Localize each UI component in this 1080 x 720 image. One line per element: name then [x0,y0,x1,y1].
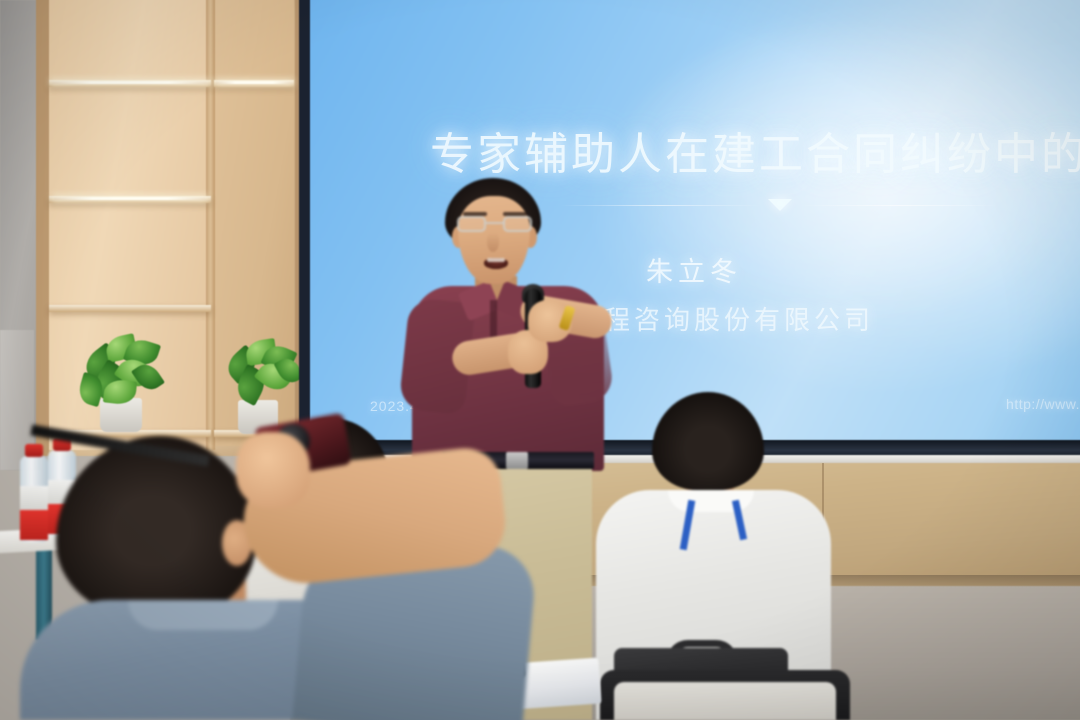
slide-divider [560,196,1000,214]
glasses-lens-left [457,216,486,232]
slide-speaker-name: 朱立冬 [0,250,1080,289]
bottle-label-red [20,510,48,540]
bottle-label-white [20,486,48,510]
glasses-icon [457,216,533,234]
led-strip-light [216,81,292,84]
glasses-lens-right [503,216,532,232]
presentation-photo-scene: 专家辅助人在建工合同纠纷中的作用 朱立冬 鼎正工程咨询股份有限公司 2023.4… [0,0,1080,720]
bookshelf-frame [36,0,304,456]
attendee-right-collar [668,490,754,512]
presenter-teeth [487,258,505,262]
photographer-collar [128,600,278,630]
photographer-hand [236,432,310,508]
divider-line-right [798,205,1000,206]
led-strip-light [52,81,208,84]
down-triangle-icon [768,199,792,211]
slide-title: 专家辅助人在建工合同纠纷中的作用 [430,118,1080,182]
divider-line-left [560,205,762,206]
presenter-belt-buckle [506,452,528,469]
led-strip-light [54,197,206,200]
chair-back-inner [614,682,836,720]
presenter-nose [487,232,499,252]
slide-url: http://www. [1006,396,1080,412]
bottle-cap [25,444,43,457]
glasses-bridge [486,222,504,224]
